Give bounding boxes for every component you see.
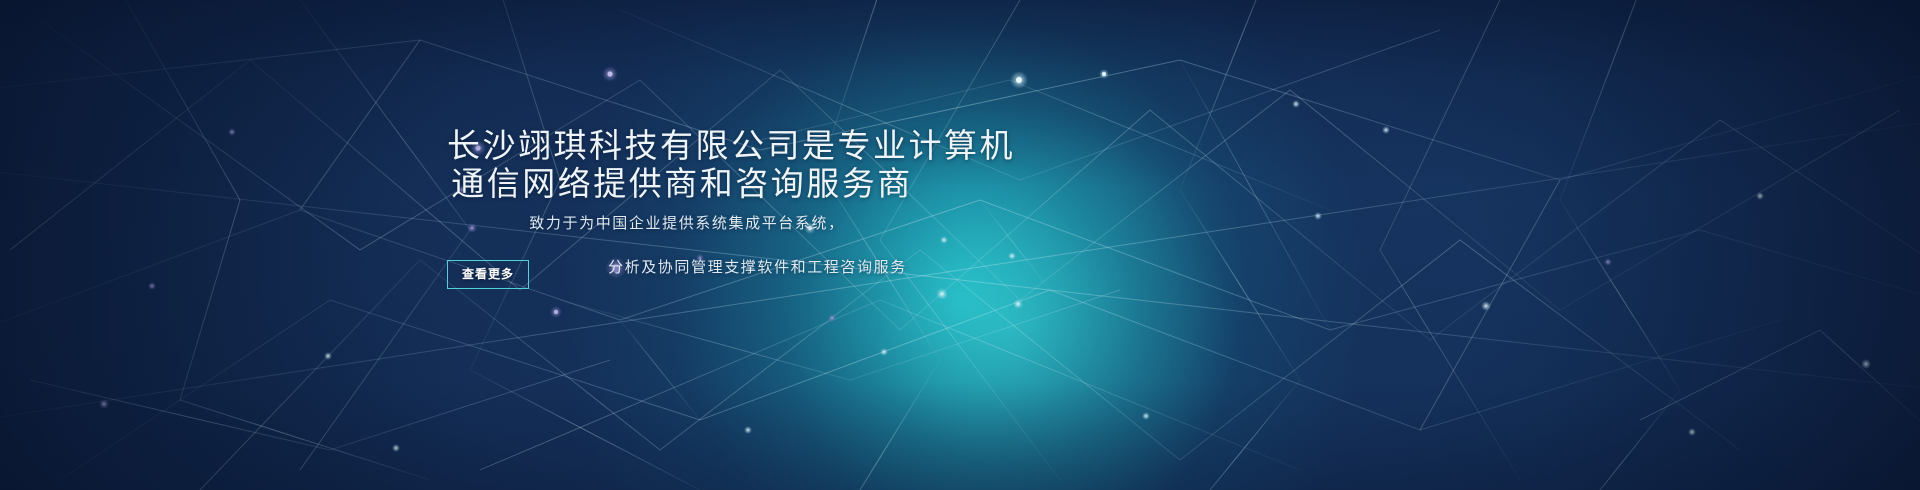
- subtitle-line-2: 分析及协同管理支撑软件和工程咨询服务: [608, 256, 907, 277]
- hero-banner: 长沙翊琪科技有限公司是专业计算机 通信网络提供商和咨询服务商 致力于为中国企业提…: [0, 0, 1920, 490]
- view-more-button[interactable]: 查看更多: [447, 260, 529, 289]
- headline-line-2: 通信网络提供商和咨询服务商: [447, 166, 917, 204]
- banner-content: 长沙翊琪科技有限公司是专业计算机 通信网络提供商和咨询服务商 致力于为中国企业提…: [0, 0, 1920, 490]
- headline-line-1: 长沙翊琪科技有限公司是专业计算机: [447, 129, 1015, 165]
- headline: 长沙翊琪科技有限公司是专业计算机 通信网络提供商和咨询服务商: [447, 128, 917, 204]
- subtitle-line-1: 致力于为中国企业提供系统集成平台系统，: [452, 212, 922, 233]
